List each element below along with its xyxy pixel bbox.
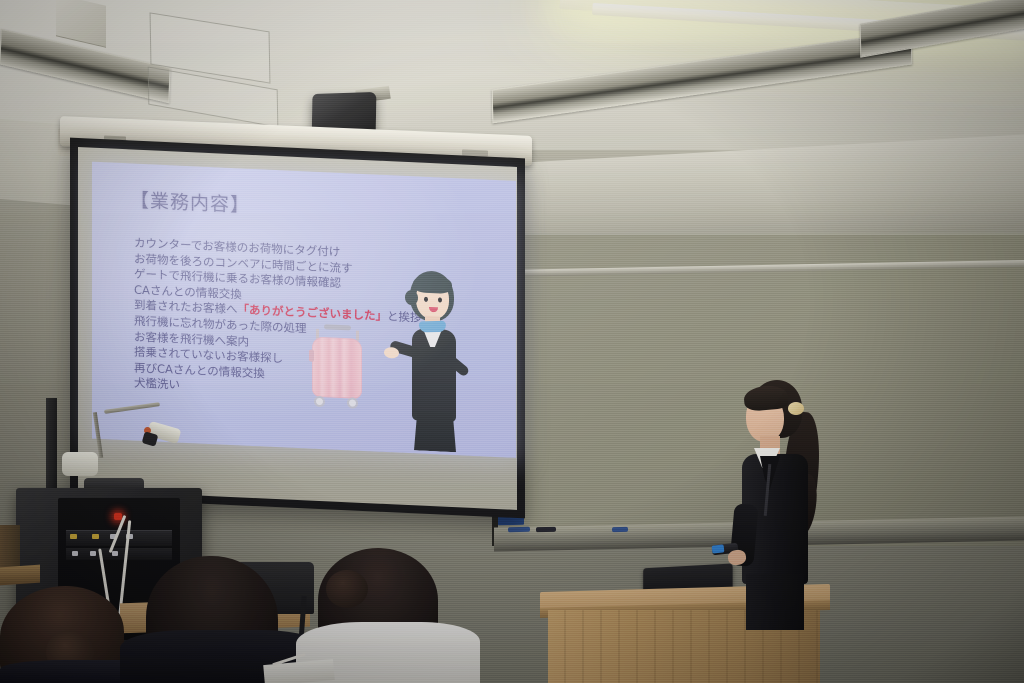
ca-hand xyxy=(384,347,399,359)
ca-scarf xyxy=(419,321,447,333)
av-control-panel[interactable] xyxy=(66,548,172,560)
ca-skirt xyxy=(414,410,456,452)
cabinet-post xyxy=(46,398,57,494)
av-button[interactable] xyxy=(112,551,118,556)
projection-screen: 【業務内容】 カウンターでお客様のお荷物にタグ付け お荷物を後ろのコンベアに時間… xyxy=(70,138,525,519)
ca-eye xyxy=(438,297,442,302)
av-button[interactable] xyxy=(72,551,78,556)
suitcase-clip xyxy=(309,350,314,362)
flight-attendant-illustration xyxy=(388,269,480,455)
screen-surface: 【業務内容】 カウンターでお客様のお荷物にタグ付け お荷物を後ろのコンベアに時間… xyxy=(78,147,517,510)
whiteboard-marker[interactable] xyxy=(612,527,628,532)
av-button[interactable] xyxy=(90,551,96,556)
suitcase-wheel-icon xyxy=(314,396,325,407)
projected-slide: 【業務内容】 カウンターでお客様のお荷物にタグ付け お荷物を後ろのコンベアに時間… xyxy=(92,162,516,458)
pink-suitcase-illustration xyxy=(308,323,366,410)
audience-hair-bun xyxy=(326,570,368,608)
document-camera-base xyxy=(62,452,98,476)
classroom-presentation-photo: 【業務内容】 カウンターでお客様のお荷物にタグ付け お荷物を後ろのコンベアに時間… xyxy=(0,0,1024,683)
side-desk xyxy=(0,565,40,586)
presenter-remote-button[interactable] xyxy=(712,544,725,553)
suitcase-wheel-icon xyxy=(347,397,358,408)
whiteboard-marker[interactable] xyxy=(508,527,530,532)
av-button[interactable] xyxy=(70,534,77,539)
ca-eye xyxy=(424,297,428,302)
av-button[interactable] xyxy=(92,534,99,539)
presenter-bangs xyxy=(743,384,789,412)
suitcase-body xyxy=(312,337,362,399)
whiteboard-marker[interactable] xyxy=(536,527,556,532)
presenter-skirt xyxy=(746,574,804,630)
presenter xyxy=(722,378,852,628)
slide-title: 【業務内容】 xyxy=(130,185,250,217)
hair-tie-icon xyxy=(788,402,804,415)
ca-bun xyxy=(405,290,418,306)
